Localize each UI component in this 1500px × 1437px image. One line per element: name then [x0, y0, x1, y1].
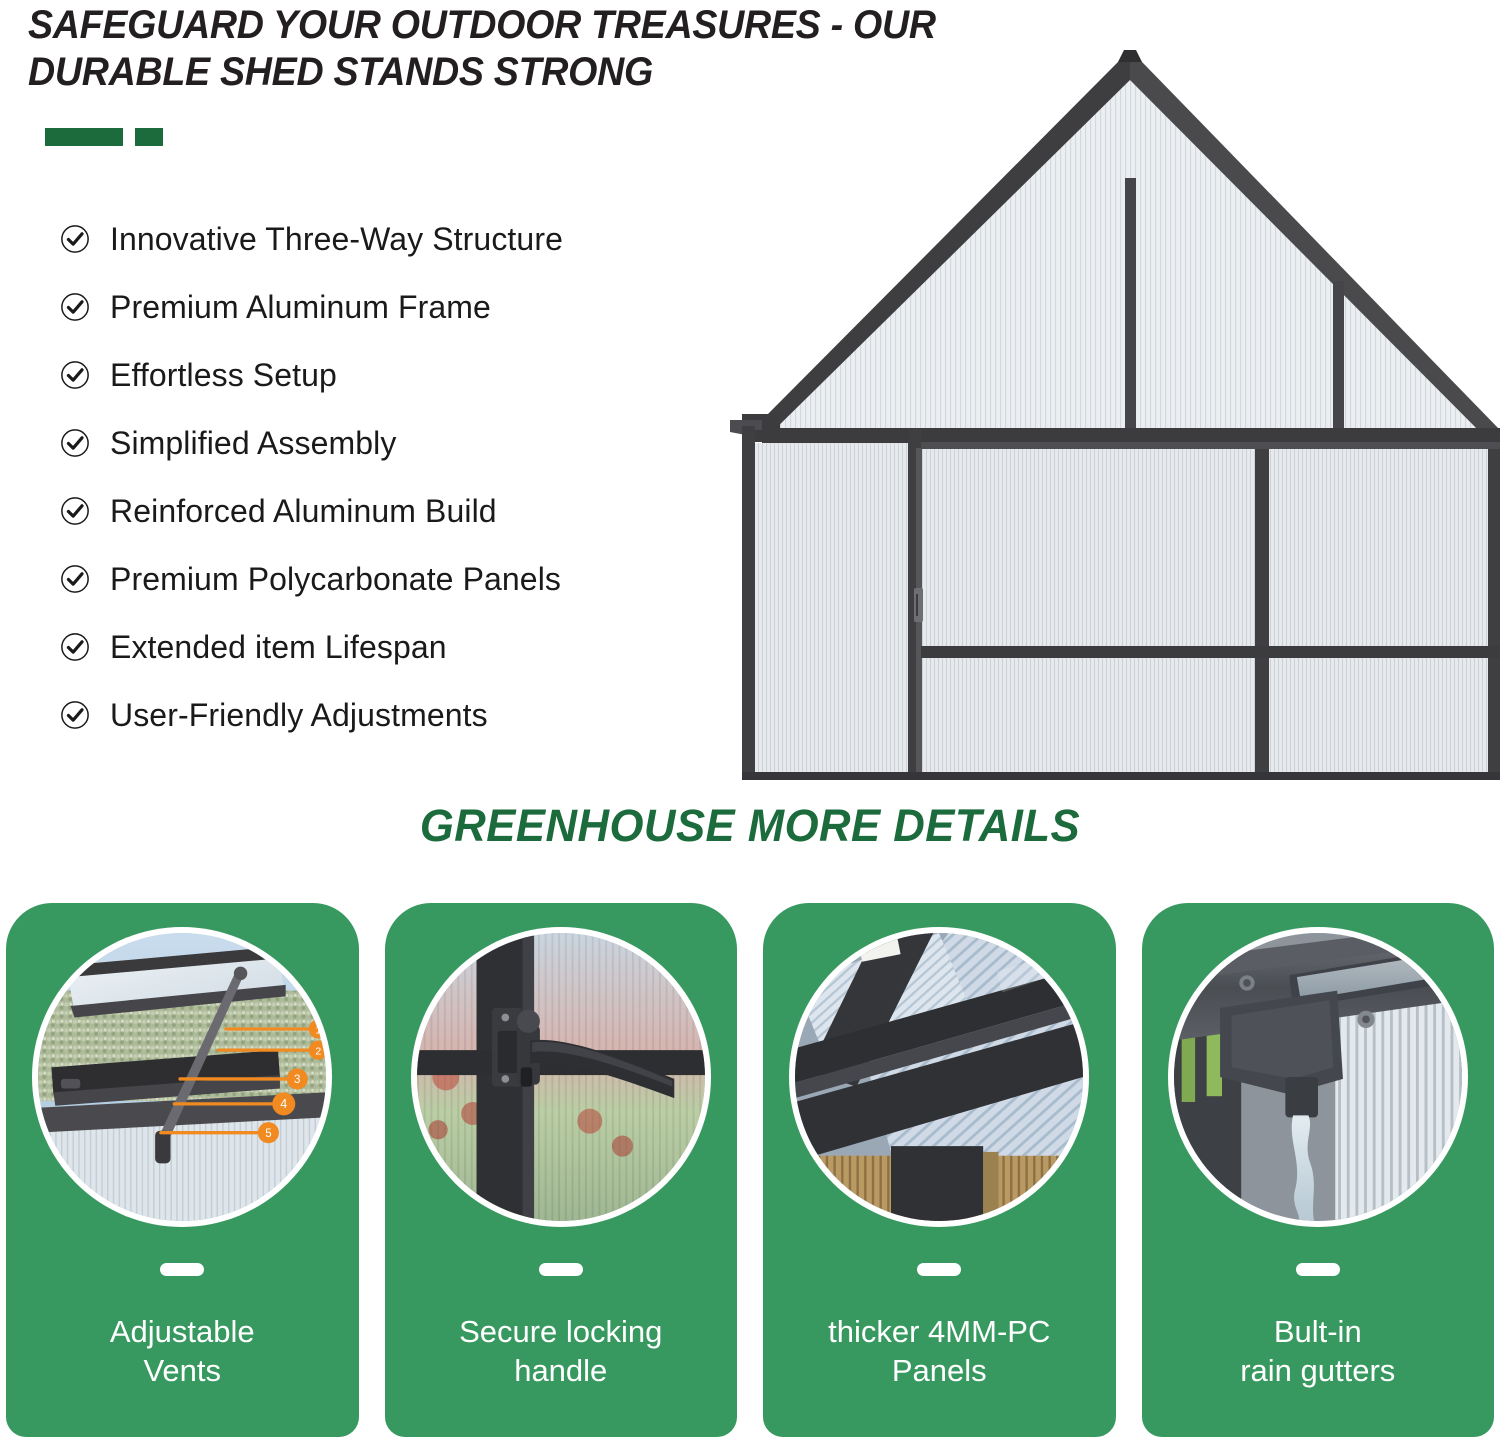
check-circle-icon	[60, 700, 90, 730]
photo-frame	[789, 927, 1089, 1227]
svg-text:4: 4	[281, 1097, 288, 1111]
accent-bar-long	[45, 128, 123, 146]
svg-text:2: 2	[316, 1045, 322, 1057]
feature-label: Premium Aluminum Frame	[110, 289, 491, 326]
photo-frame: 1 2 3 4 5	[32, 927, 332, 1227]
svg-text:5: 5	[265, 1128, 271, 1140]
feature-list: Innovative Three-Way Structure Premium A…	[60, 205, 760, 749]
card-divider	[539, 1263, 583, 1276]
accent-bars	[45, 128, 163, 146]
detail-card-secure-locking-handle: Secure locking handle	[385, 903, 738, 1437]
feature-item: Premium Aluminum Frame	[60, 273, 760, 341]
feature-item: Extended item Lifespan	[60, 613, 760, 681]
photo-frame	[411, 927, 711, 1227]
roof-vent-photo: 1 2 3 4 5	[38, 933, 326, 1221]
check-circle-icon	[60, 428, 90, 458]
greenhouse-illustration	[670, 28, 1500, 780]
page-title: SAFEGUARD YOUR OUTDOOR TREASURES - OUR D…	[28, 2, 1156, 96]
accent-bar-short	[135, 128, 163, 146]
feature-item: User-Friendly Adjustments	[60, 681, 760, 749]
detail-card-pc-panels: thicker 4MM-PC Panels	[763, 903, 1116, 1437]
feature-item: Innovative Three-Way Structure	[60, 205, 760, 273]
check-circle-icon	[60, 632, 90, 662]
check-circle-icon	[60, 292, 90, 322]
feature-label: Reinforced Aluminum Build	[110, 493, 497, 530]
feature-label: Innovative Three-Way Structure	[110, 221, 563, 258]
card-label: thicker 4MM-PC Panels	[763, 1313, 1116, 1391]
polycarbonate-panel-photo	[795, 933, 1083, 1221]
card-divider	[1296, 1263, 1340, 1276]
check-circle-icon	[60, 360, 90, 390]
check-circle-icon	[60, 224, 90, 254]
card-divider	[160, 1263, 204, 1276]
section-heading: GREENHOUSE MORE DETAILS	[23, 800, 1478, 852]
feature-label: User-Friendly Adjustments	[110, 697, 488, 734]
card-label: Bult-in rain gutters	[1142, 1313, 1495, 1391]
feature-label: Premium Polycarbonate Panels	[110, 561, 561, 598]
feature-item: Simplified Assembly	[60, 409, 760, 477]
feature-item: Reinforced Aluminum Build	[60, 477, 760, 545]
feature-item: Effortless Setup	[60, 341, 760, 409]
svg-text:3: 3	[294, 1074, 300, 1086]
feature-item: Premium Polycarbonate Panels	[60, 545, 760, 613]
feature-label: Effortless Setup	[110, 357, 337, 394]
card-label: Secure locking handle	[385, 1313, 738, 1391]
door-handle-photo	[417, 933, 705, 1221]
feature-label: Simplified Assembly	[110, 425, 396, 462]
detail-cards-row: 1 2 3 4 5 Adjustable Vents	[0, 903, 1500, 1437]
check-circle-icon	[60, 496, 90, 526]
photo-frame	[1168, 927, 1468, 1227]
detail-card-rain-gutters: Bult-in rain gutters	[1142, 903, 1495, 1437]
check-circle-icon	[60, 564, 90, 594]
detail-card-adjustable-vents: 1 2 3 4 5 Adjustable Vents	[6, 903, 359, 1437]
svg-text:1: 1	[316, 1024, 322, 1036]
hero-section: SAFEGUARD YOUR OUTDOOR TREASURES - OUR D…	[0, 0, 1500, 790]
card-label: Adjustable Vents	[6, 1313, 359, 1391]
rain-gutter-photo	[1174, 933, 1462, 1221]
feature-label: Extended item Lifespan	[110, 629, 447, 666]
card-divider	[917, 1263, 961, 1276]
